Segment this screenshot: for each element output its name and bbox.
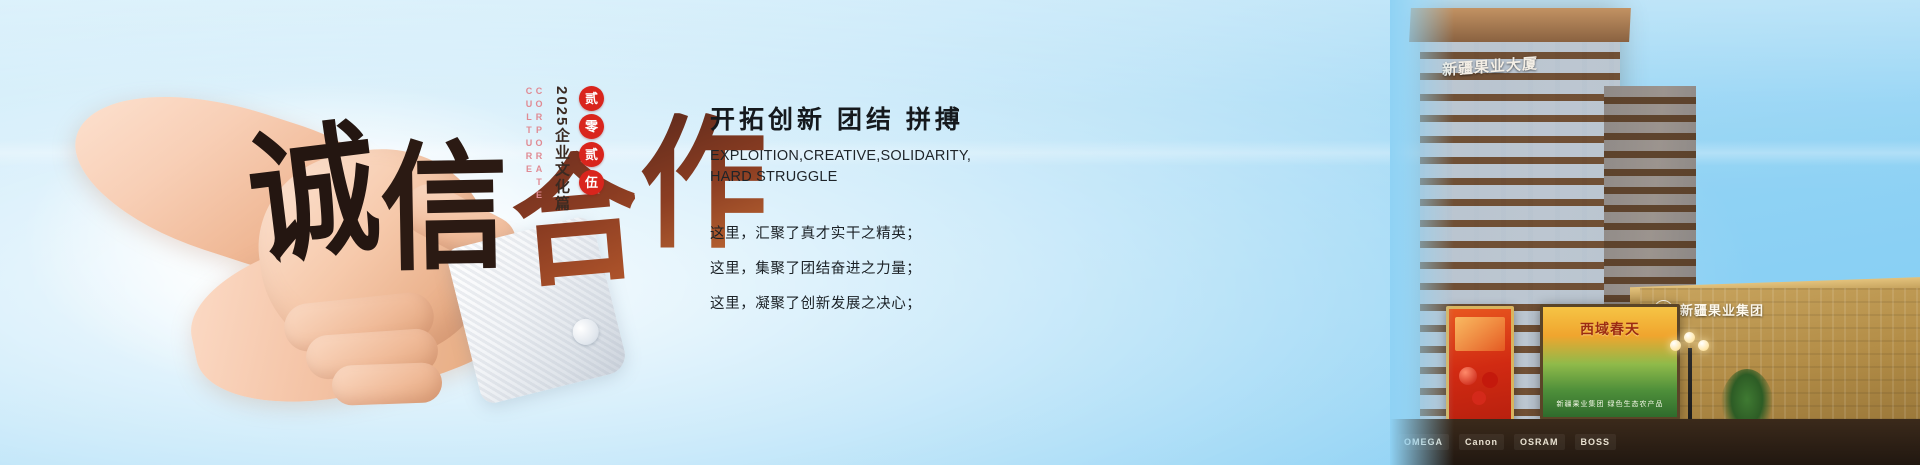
seal-char-4: 伍 (579, 170, 604, 195)
vertical-english-label: CORPORATE CULTURE (524, 86, 544, 236)
tower-crown (1409, 8, 1631, 42)
description-line-3: 这里，凝聚了创新发展之决心； (710, 292, 1010, 313)
shop-sign: OMEGA (1398, 434, 1449, 450)
lamp-bulb-left (1670, 340, 1681, 351)
seal-stack: 贰 零 贰 伍 (579, 86, 604, 195)
street-lamp-head (1670, 332, 1710, 354)
description-line-1: 这里，汇聚了真才实干之精英； (710, 222, 1010, 243)
calligraphy-headline: 诚 信 合 作 (244, 67, 695, 320)
description-lines: 这里，汇聚了真才实干之精英； 这里，集聚了团结奋进之力量； 这里，凝聚了创新发展… (710, 222, 1010, 313)
text-block: 开拓创新 团结 拼搏 EXPLOITION,CREATIVE,SOLIDARIT… (710, 100, 1010, 327)
lamp-bulb-center (1684, 332, 1695, 343)
slogan-english: EXPLOITION,CREATIVE,SOLIDARITY, HARD STR… (710, 146, 1010, 188)
led-subtitle-text: 新疆果业集团 绿色生态农产品 (1557, 399, 1664, 409)
seal-char-1: 贰 (579, 86, 604, 111)
calligraphy-char-1: 诚 (241, 117, 382, 274)
cuff-button (570, 316, 602, 348)
seal-char-3: 贰 (579, 142, 604, 167)
finger-ring (331, 362, 442, 406)
shop-sign: OSRAM (1514, 434, 1565, 450)
vertical-chinese-label: 2025企业文化篇 (551, 86, 572, 236)
shop-signage-row: OMEGA Canon OSRAM BOSS (1390, 419, 1920, 465)
led-screen-billboard: 西域春天 新疆果业集团 绿色生态农产品 (1540, 304, 1680, 420)
led-title-text: 西域春天 (1580, 319, 1640, 339)
corporate-culture-banner: 诚 信 合 作 贰 零 贰 伍 2025企业文化篇 CORPORATE CULT… (0, 0, 1920, 465)
shop-sign: Canon (1459, 434, 1504, 450)
slogan-chinese: 开拓创新 团结 拼搏 (710, 100, 1010, 136)
vertical-meta-column: 贰 零 贰 伍 2025企业文化篇 CORPORATE CULTURE (524, 86, 604, 276)
podium-sign-text: 新疆果业集团 (1680, 300, 1764, 319)
lamp-bulb-right (1698, 340, 1709, 351)
seal-char-2: 零 (579, 114, 604, 139)
calligraphy-char-2: 信 (379, 138, 505, 278)
shop-sign: BOSS (1575, 434, 1617, 450)
description-line-2: 这里，集聚了团结奋进之力量； (710, 257, 1010, 278)
poster-fruit-graphic (1459, 367, 1477, 385)
poster-header-band (1455, 317, 1505, 351)
building-photo: 新疆果业大厦 果 新疆果业集团 西域春天 新疆果业集团 绿色生态农产品 (1390, 0, 1920, 465)
